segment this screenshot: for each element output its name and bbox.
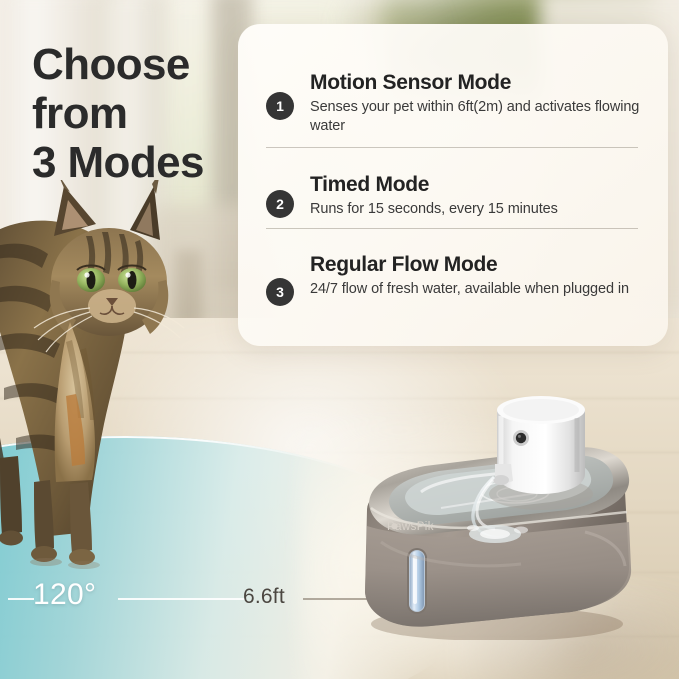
- mode-badge-3: 3: [266, 278, 294, 306]
- product-feature-image: 120° 6.6ft: [0, 0, 679, 679]
- mode-badge-1: 1: [266, 92, 294, 120]
- pet-water-fountain-product: PawsPik: [345, 392, 645, 640]
- cat-photo: [0, 180, 217, 580]
- headline-line-3: 3 Modes: [32, 138, 257, 187]
- mode-title-1: Motion Sensor Mode: [310, 70, 652, 95]
- modes-card: 1 Motion Sensor Mode Senses your pet wit…: [238, 24, 668, 346]
- mode-title-3: Regular Flow Mode: [310, 252, 652, 277]
- mode-item-motion-sensor[interactable]: 1 Motion Sensor Mode Senses your pet wit…: [266, 70, 652, 136]
- mode-item-timed[interactable]: 2 Timed Mode Runs for 15 seconds, every …: [266, 172, 652, 219]
- motion-sensor-dot-icon: [516, 433, 526, 443]
- mode-description-1: Senses your pet within 6ft(2m) and activ…: [310, 98, 652, 136]
- mode-divider: [266, 228, 638, 229]
- fountain-tower: [489, 396, 593, 510]
- mode-badge-2: 2: [266, 190, 294, 218]
- angle-label: 120°: [33, 578, 96, 612]
- page-headline: Choose from 3 Modes: [32, 40, 257, 187]
- mode-description-3: 24/7 flow of fresh water, available when…: [310, 280, 652, 299]
- headline-line-1: Choose: [32, 40, 257, 89]
- headline-line-2: from: [32, 89, 257, 138]
- mode-divider: [266, 147, 638, 148]
- mode-item-regular-flow[interactable]: 3 Regular Flow Mode 24/7 flow of fresh w…: [266, 252, 652, 299]
- distance-label: 6.6ft: [243, 585, 285, 609]
- mode-title-2: Timed Mode: [310, 172, 652, 197]
- mode-description-2: Runs for 15 seconds, every 15 minutes: [310, 200, 652, 219]
